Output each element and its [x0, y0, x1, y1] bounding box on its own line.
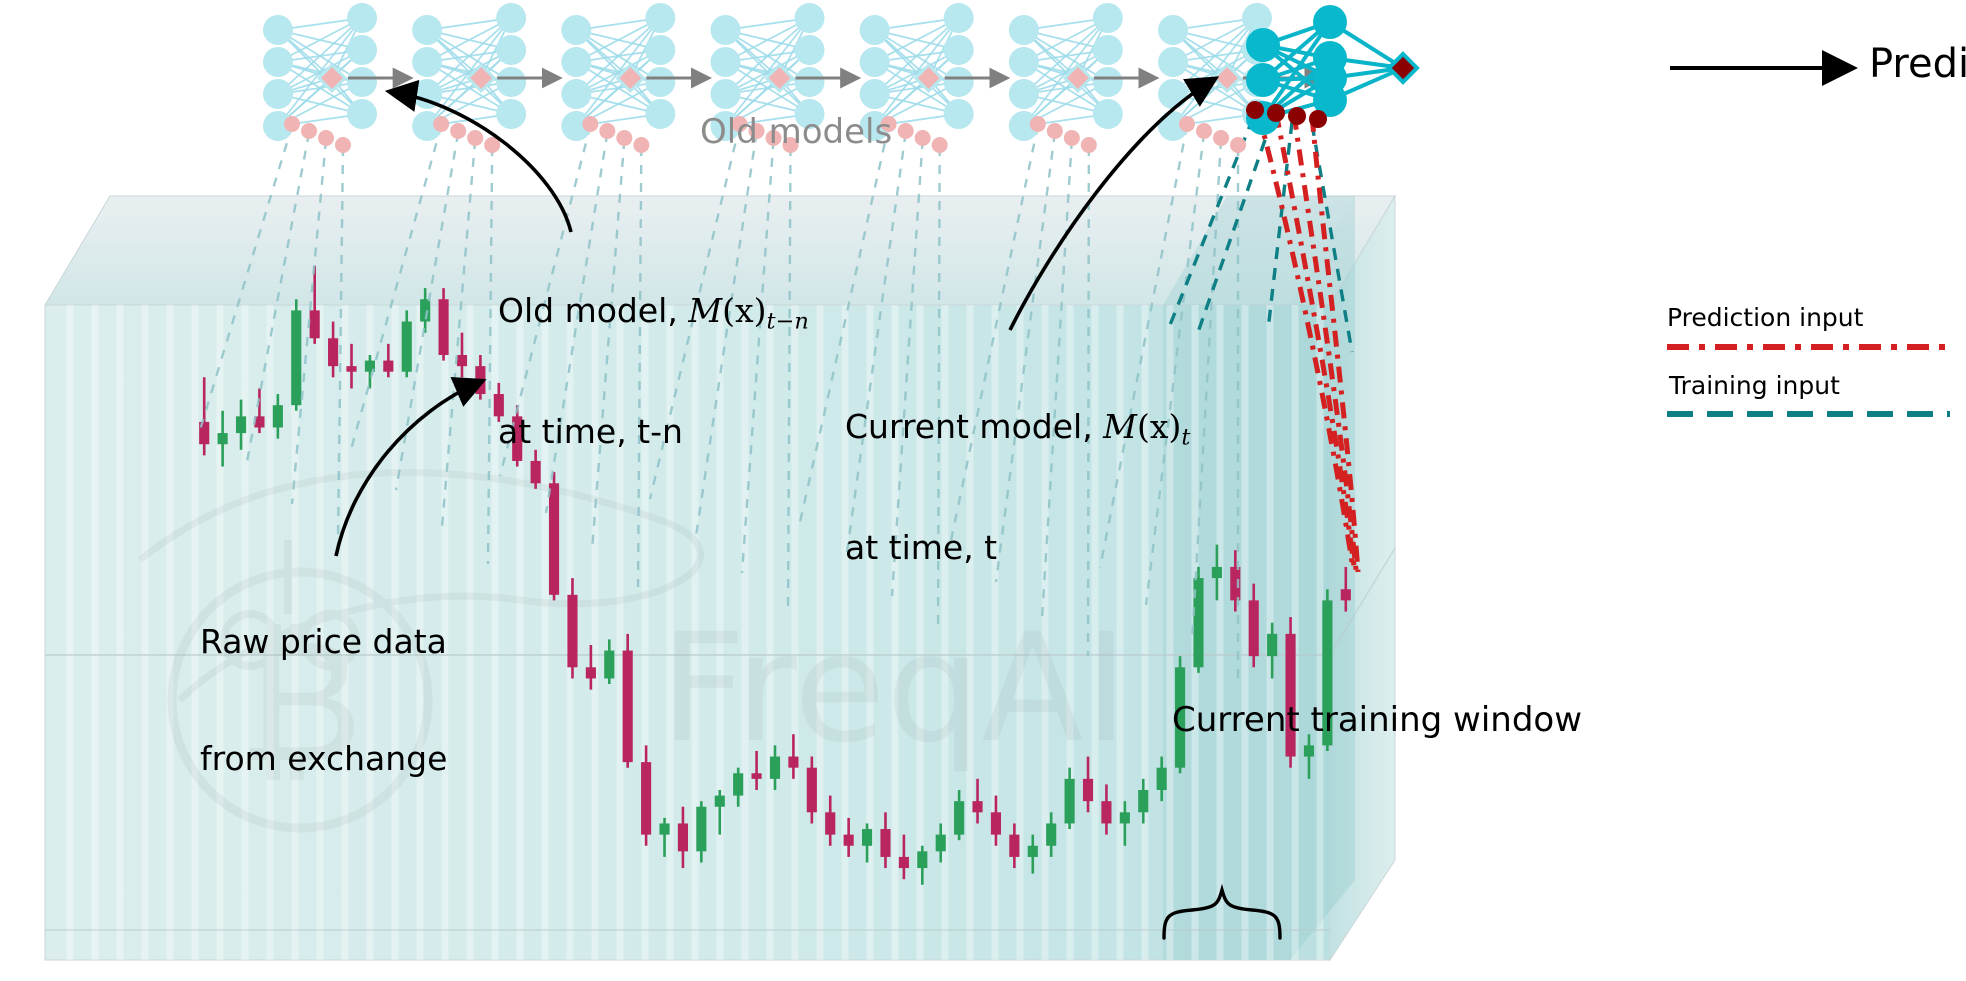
- current-model-network: [1246, 5, 1417, 135]
- current-model-math-x: (x): [1137, 407, 1181, 446]
- raw-price-line-2: from exchange: [200, 740, 447, 779]
- raw-price-data-label: Raw price data from exchange: [200, 545, 447, 857]
- prediction-label: Prediction: [1869, 41, 1966, 88]
- current-model-time-text: at time, t: [845, 529, 1190, 568]
- legend-label-training-input: Training input: [1669, 371, 1840, 401]
- diagram-canvas: ₿ FreqAI: [0, 0, 1966, 981]
- current-model-math-m: M: [1103, 407, 1137, 446]
- current-model-math-sub: t: [1181, 424, 1190, 450]
- current-training-window-label: Current training window: [1172, 700, 1582, 740]
- current-model-text: Current model,: [845, 407, 1103, 446]
- current-model-label: Current model, M(x)t at time, t: [845, 330, 1190, 645]
- legend-label-prediction-input: Prediction input: [1667, 303, 1863, 333]
- old-model-math-m: M: [688, 291, 722, 330]
- old-models-label: Old models: [700, 112, 892, 152]
- old-model-math-sub: t−n: [767, 308, 809, 334]
- raw-price-line-1: Raw price data: [200, 623, 447, 662]
- old-model-math-x: (x): [722, 291, 766, 330]
- old-model-text: Old model,: [498, 291, 688, 330]
- old-model-label: Old model, M(x)t−n at time, t-n: [498, 214, 809, 529]
- old-model-time-text: at time, t-n: [498, 413, 809, 452]
